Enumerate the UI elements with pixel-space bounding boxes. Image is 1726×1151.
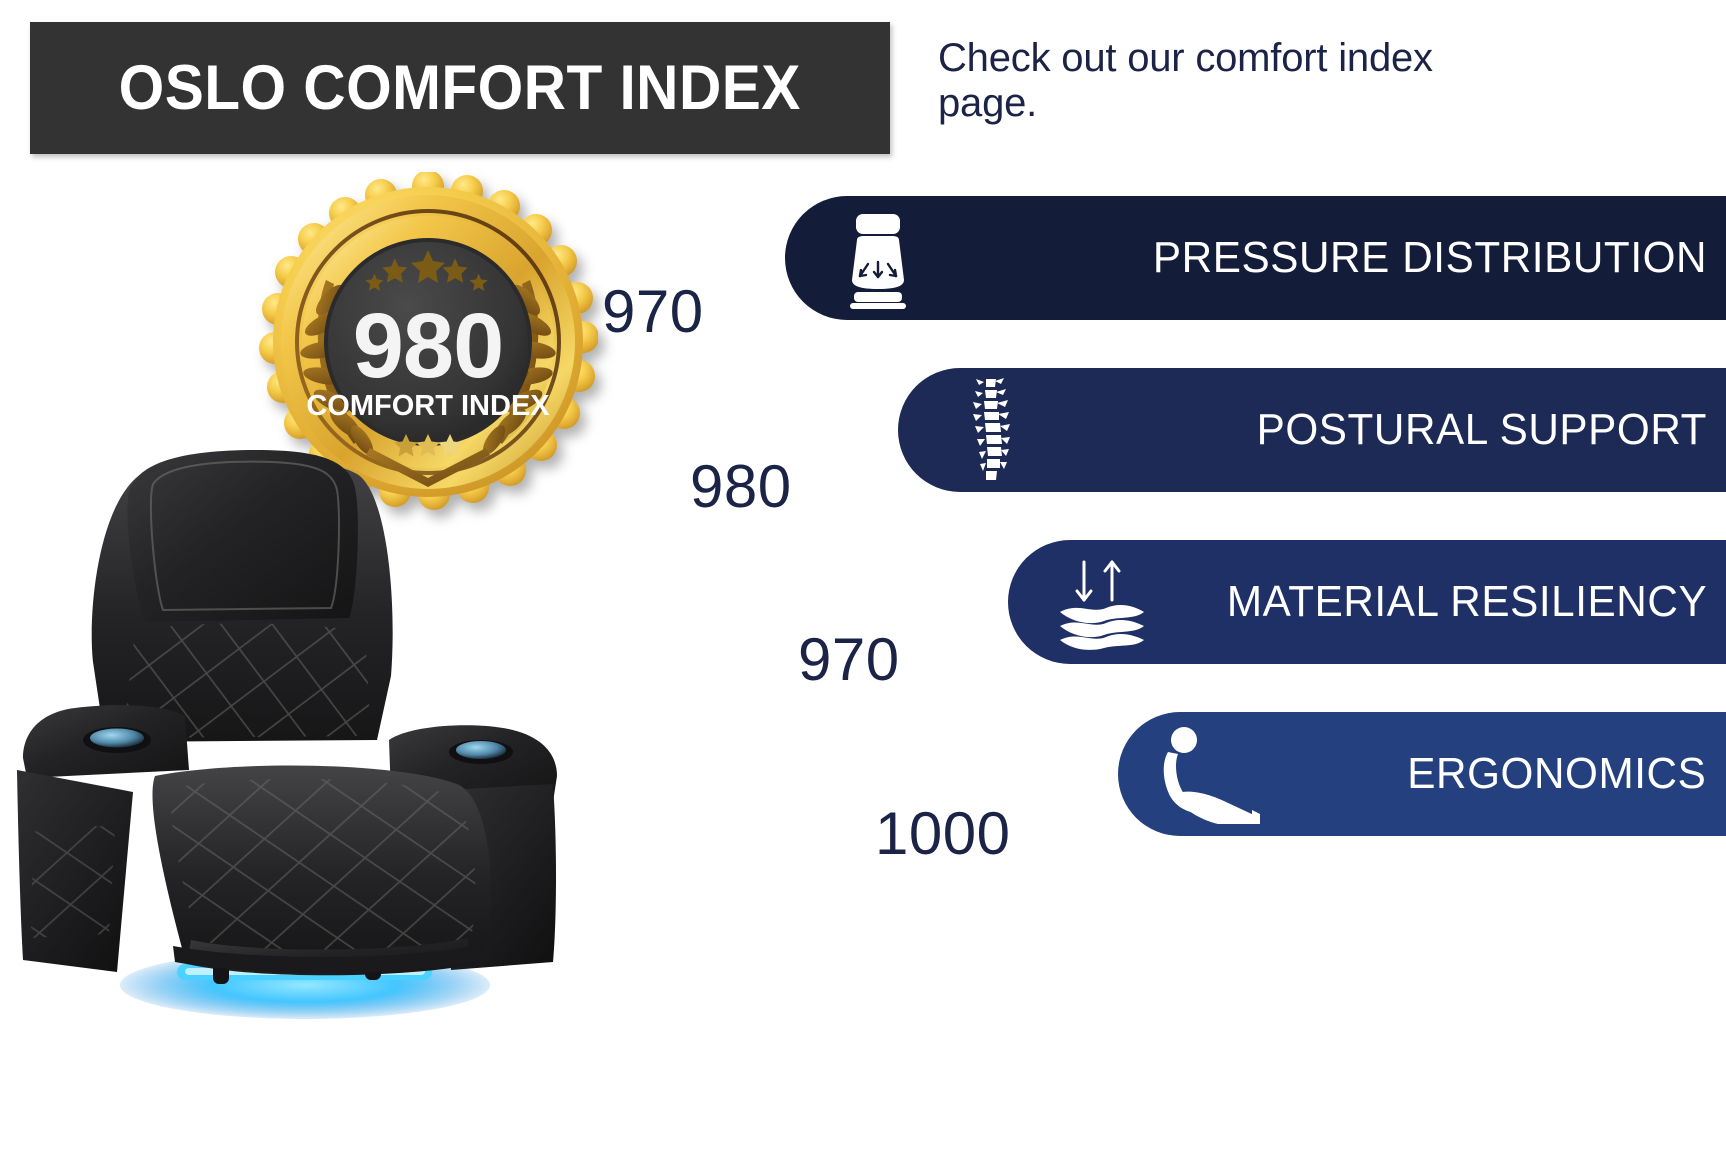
metric-bar-material-resiliency[interactable]: MATERIAL RESILIENCY xyxy=(1008,540,1726,664)
cushion-compression-icon xyxy=(819,202,937,314)
metric-bar-ergonomics[interactable]: ERGONOMICS xyxy=(1118,712,1726,836)
metric-bar-postural-support[interactable]: POSTURAL SUPPORT xyxy=(898,368,1726,492)
page-title-box: OSLO COMFORT INDEX xyxy=(30,22,890,154)
seat-quilt xyxy=(171,779,475,951)
badge-label: COMFORT INDEX xyxy=(306,390,550,422)
cup-holder-right xyxy=(449,740,513,764)
product-image-recliner xyxy=(5,440,585,1040)
subtitle-text: Check out our comfort index page. xyxy=(938,36,1498,126)
left-arm-quilt xyxy=(31,826,115,938)
metric-value: 970 xyxy=(798,625,900,694)
metric-label: ERGONOMICS xyxy=(1408,749,1726,799)
page-title: OSLO COMFORT INDEX xyxy=(119,52,801,124)
layered-foam-icon xyxy=(1042,546,1160,658)
metric-bar-pressure-distribution[interactable]: PRESSURE DISTRIBUTION xyxy=(785,196,1726,320)
metric-value: 980 xyxy=(690,452,792,521)
seated-person-icon xyxy=(1152,718,1270,830)
metric-label: PRESSURE DISTRIBUTION xyxy=(1153,233,1726,283)
infographic-canvas: OSLO COMFORT INDEX Check out our comfort… xyxy=(0,0,1726,1151)
metric-label: MATERIAL RESILIENCY xyxy=(1226,577,1726,627)
metric-label: POSTURAL SUPPORT xyxy=(1256,405,1726,455)
metric-value: 970 xyxy=(602,277,704,346)
metric-value: 1000 xyxy=(875,799,1010,868)
badge-score: 980 xyxy=(353,295,504,397)
spine-icon xyxy=(932,374,1050,486)
cup-holder-left xyxy=(83,727,151,753)
